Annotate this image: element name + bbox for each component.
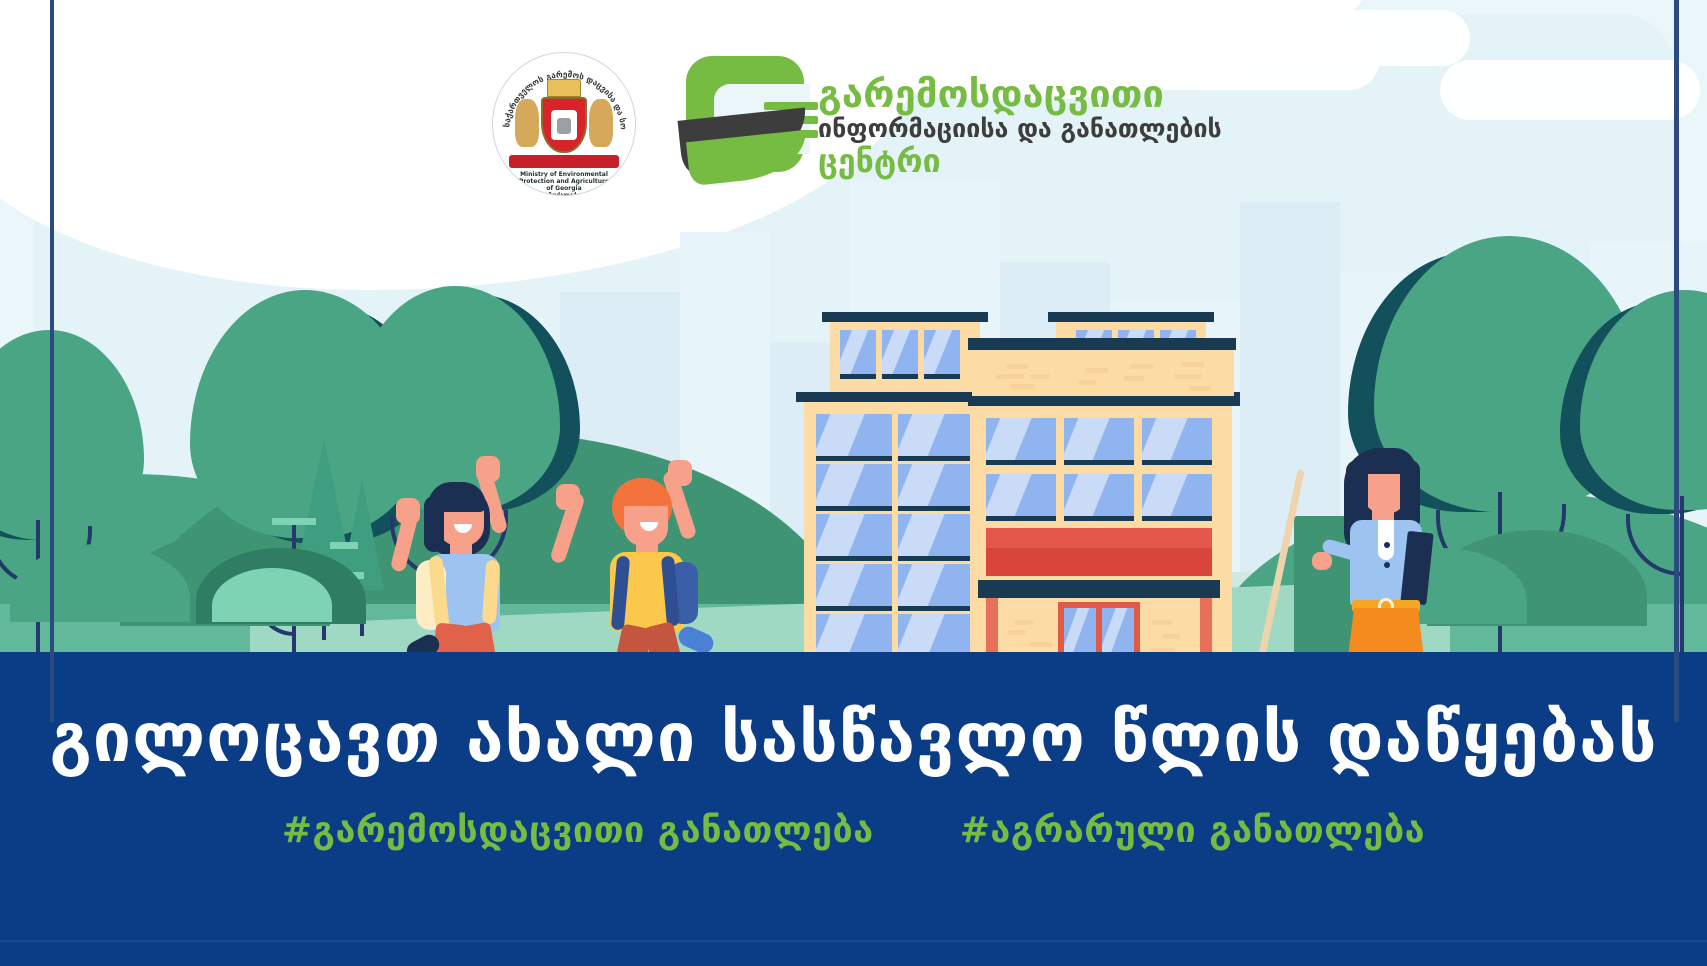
boy-student-waving xyxy=(560,456,720,668)
cloud-icon xyxy=(1230,10,1470,66)
school-building xyxy=(738,268,1298,668)
logo-line-1: გარემოსდაცვითი xyxy=(818,74,1378,114)
cloud-icon xyxy=(1440,60,1700,120)
shield-icon xyxy=(541,97,587,153)
lion-left-icon xyxy=(515,99,539,147)
poster-root: საქართველოს გარემოს დაცვისა და სოფლის მე… xyxy=(0,0,1707,966)
emblem-english-text: Ministry of Environmental Protection and… xyxy=(493,171,635,196)
cloud-icon xyxy=(200,18,420,84)
banner-bottom-rule xyxy=(0,940,1707,966)
crown-icon xyxy=(547,79,581,97)
center-logo-icon xyxy=(678,50,818,180)
logo-line-2: ინფორმაციისა და განათლების xyxy=(818,114,1378,144)
girl-student-waving xyxy=(398,456,538,668)
hashtags-row: #გარემოსდაცვითი განათლება #აგრარული განა… xyxy=(0,810,1707,851)
logo-line-3: ცენტრი xyxy=(818,144,1378,178)
left-vertical-rule xyxy=(50,0,54,722)
headline-text: გილოცავთ ახალი სასწავლო წლის დაწყებას xyxy=(0,700,1707,778)
conifer-band xyxy=(272,518,316,525)
emblem-en-line3: of Georgia xyxy=(493,185,635,192)
ministry-emblem: საქართველოს გარემოს დაცვისა და სოფლის მე… xyxy=(492,52,636,196)
ribbon-icon xyxy=(509,155,619,168)
hashtag-environmental-education: #გარემოსდაცვითი განათლება xyxy=(282,810,874,851)
right-vertical-rule xyxy=(1674,0,1679,722)
logo-text-block: გარემოსდაცვითი ინფორმაციისა და განათლები… xyxy=(818,74,1378,178)
emblem-en-line1: Ministry of Environmental xyxy=(493,171,635,178)
hashtag-agrarian-education: #აგრარული განათლება xyxy=(960,810,1425,851)
teacher-with-pointer xyxy=(1300,440,1450,670)
emblem-en-line2: Protection and Agriculture xyxy=(493,178,635,185)
bottom-banner: გილოცავთ ახალი სასწავლო წლის დაწყებას #გ… xyxy=(0,652,1707,966)
lion-right-icon xyxy=(589,99,613,147)
